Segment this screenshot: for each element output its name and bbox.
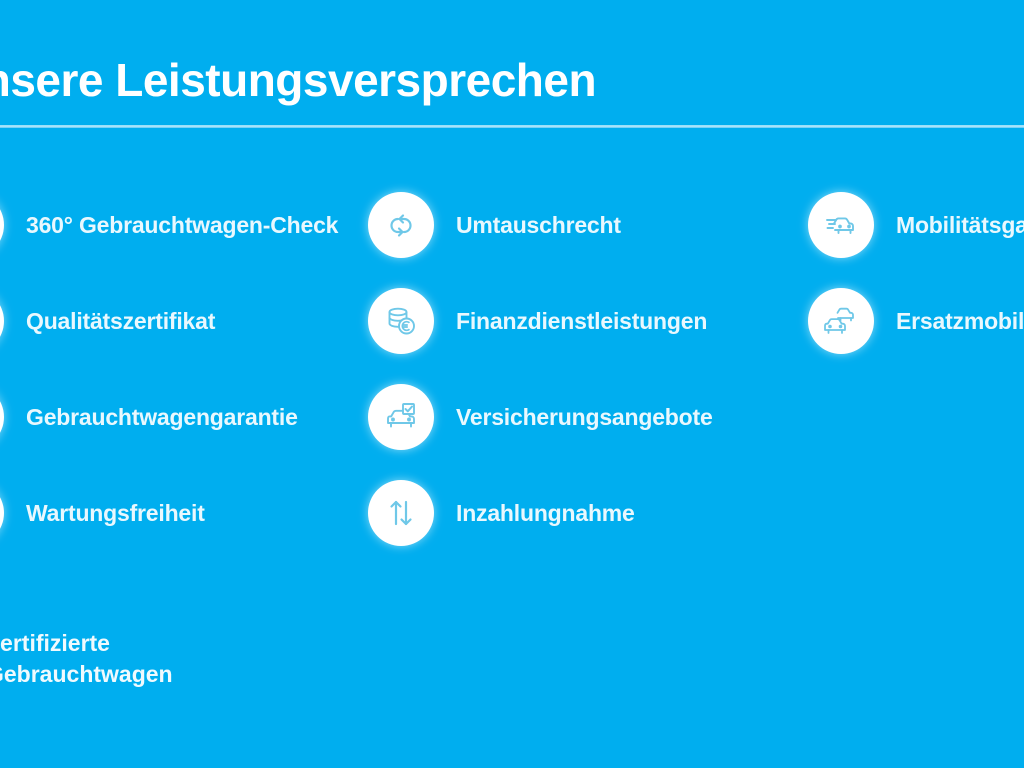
benefit-label: Inzahlungnahme bbox=[456, 500, 635, 527]
benefit-label: Ersatzmobilität bbox=[896, 308, 1024, 335]
wrench-icon bbox=[0, 480, 4, 546]
promo-banner: Unsere Leistungsversprechen 360° Gebrauc… bbox=[0, 0, 1024, 768]
up-down-arrows-icon bbox=[368, 480, 434, 546]
benefit-label: Wartungsfreiheit bbox=[26, 500, 205, 527]
magnifier-car-icon bbox=[0, 192, 4, 258]
shield-car-icon bbox=[0, 384, 4, 450]
car-speed-icon bbox=[808, 192, 874, 258]
car-document-check-icon bbox=[368, 384, 434, 450]
certified-used-cars-badge: Zertifizierte Gebrauchtwagen bbox=[0, 628, 173, 690]
benefit-label: Qualitätszertifikat bbox=[26, 308, 215, 335]
benefit-item[interactable]: 360° Gebrauchtwagen-Check bbox=[0, 186, 368, 264]
badge-line-2: Gebrauchtwagen bbox=[0, 659, 173, 690]
benefits-column-middle: Umtauschrecht Finanzdienstleistungen bbox=[368, 186, 788, 570]
benefit-item[interactable]: Qualitätszertifikat bbox=[0, 282, 368, 360]
coins-euro-icon bbox=[368, 288, 434, 354]
exchange-arrows-icon bbox=[368, 192, 434, 258]
benefit-item[interactable]: Gebrauchtwagengarantie bbox=[0, 378, 368, 456]
benefit-item[interactable]: Finanzdienstleistungen bbox=[368, 282, 788, 360]
benefit-label: Umtauschrecht bbox=[456, 212, 621, 239]
benefit-item[interactable]: Mobilitätsgarantie bbox=[808, 186, 1024, 264]
two-cars-icon bbox=[808, 288, 874, 354]
benefits-column-right: Mobilitätsgarantie Ersatzmobilität bbox=[808, 186, 1024, 378]
benefit-item[interactable]: Umtauschrecht bbox=[368, 186, 788, 264]
benefit-label: Mobilitätsgarantie bbox=[896, 212, 1024, 239]
badge-line-1: Zertifizierte bbox=[0, 628, 173, 659]
benefit-item[interactable]: Wartungsfreiheit bbox=[0, 474, 368, 552]
benefit-item[interactable]: Versicherungsangebote bbox=[368, 378, 788, 456]
page-title: Unsere Leistungsversprechen bbox=[0, 55, 1024, 106]
benefit-label: Versicherungsangebote bbox=[456, 404, 713, 431]
title-divider bbox=[0, 125, 1024, 128]
benefit-label: Finanzdienstleistungen bbox=[456, 308, 707, 335]
benefit-label: Gebrauchtwagengarantie bbox=[26, 404, 298, 431]
certificate-icon bbox=[0, 288, 4, 354]
benefits-column-left: 360° Gebrauchtwagen-Check Qualitätszerti… bbox=[0, 186, 368, 570]
benefit-item[interactable]: Ersatzmobilität bbox=[808, 282, 1024, 360]
benefit-label: 360° Gebrauchtwagen-Check bbox=[26, 212, 338, 239]
benefit-item[interactable]: Inzahlungnahme bbox=[368, 474, 788, 552]
